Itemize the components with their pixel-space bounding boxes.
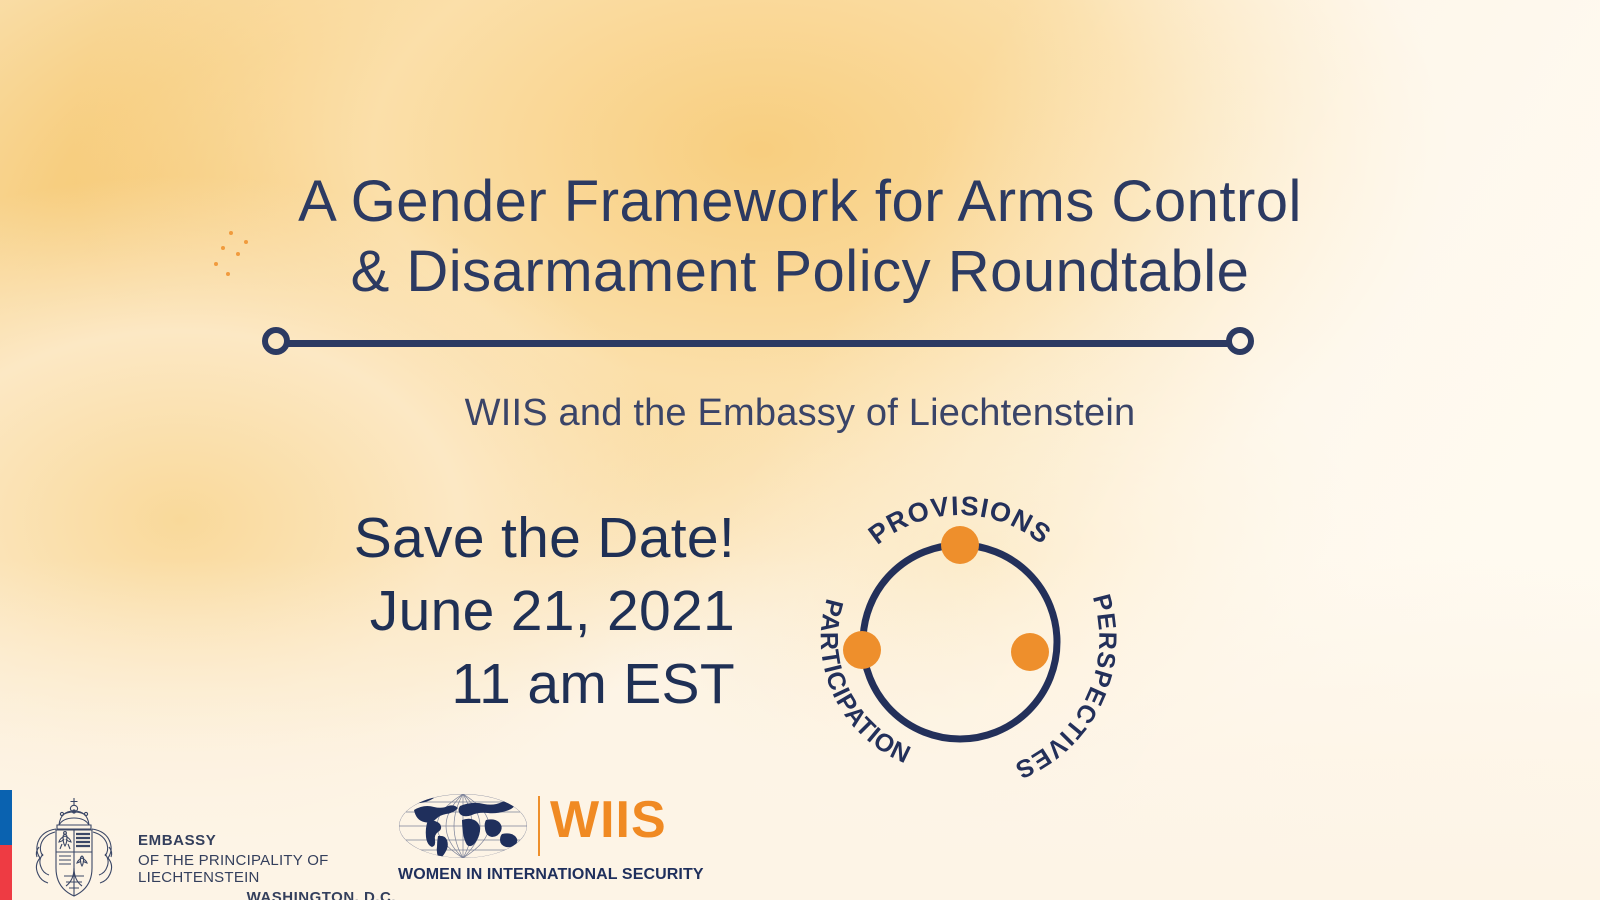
diagram-node-participation xyxy=(843,631,881,669)
embassy-text-line-2: OF THE PRINCIPALITY OF LIECHTENSTEIN xyxy=(138,852,396,886)
liechtenstein-coat-of-arms-icon xyxy=(26,792,122,900)
event-date: June 21, 2021 xyxy=(270,575,735,648)
decorative-dot-icon xyxy=(236,252,240,256)
embassy-text-line-3: WASHINGTON, D.C. xyxy=(138,889,396,900)
flag-stripe-blue xyxy=(0,790,12,845)
wiis-logo-divider xyxy=(538,796,540,856)
subtitle: WIIS and the Embassy of Liechtenstein xyxy=(0,392,1600,435)
decorative-dot-icon xyxy=(244,240,248,244)
liechtenstein-flag-stripe xyxy=(0,790,12,900)
wiis-logo: WIIS WOMEN IN INTERNATIONAL SECURITY xyxy=(398,788,648,900)
decorative-dot-icon xyxy=(226,272,230,276)
save-the-date-block: Save the Date! June 21, 2021 11 am EST xyxy=(270,502,735,721)
wiis-tagline: WOMEN IN INTERNATIONAL SECURITY xyxy=(398,866,704,884)
globe-icon xyxy=(398,790,528,862)
three-p-circle-diagram: PROVISIONS PARTICIPATION PERSPECTIVES xyxy=(790,462,1130,782)
decorative-dot-icon xyxy=(221,246,225,250)
page-title: A Gender Framework for Arms Control & Di… xyxy=(0,168,1600,306)
wiis-wordmark: WIIS xyxy=(550,790,667,850)
event-flyer: A Gender Framework for Arms Control & Di… xyxy=(0,0,1600,900)
divider-endpoint-right-icon xyxy=(1226,327,1254,355)
title-line-1: A Gender Framework for Arms Control xyxy=(0,168,1600,236)
title-line-2: & Disarmament Policy Roundtable xyxy=(0,238,1600,306)
embassy-text-line-1: EMBASSY xyxy=(138,832,396,849)
divider-bar xyxy=(284,340,1232,347)
divider-endpoint-left-icon xyxy=(262,327,290,355)
embassy-logo-text: EMBASSY OF THE PRINCIPALITY OF LIECHTENS… xyxy=(138,832,396,900)
embassy-logo: EMBASSY OF THE PRINCIPALITY OF LIECHTENS… xyxy=(26,792,396,900)
flag-stripe-red xyxy=(0,845,12,900)
diagram-node-perspectives xyxy=(1011,633,1049,671)
decorative-dot-icon xyxy=(214,262,218,266)
divider xyxy=(262,327,1254,361)
event-time: 11 am EST xyxy=(270,648,735,721)
save-the-date-label: Save the Date! xyxy=(270,502,735,575)
diagram-label-right: PERSPECTIVES xyxy=(1011,591,1122,782)
decorative-dot-icon xyxy=(229,231,233,235)
diagram-node-provisions xyxy=(941,526,979,564)
